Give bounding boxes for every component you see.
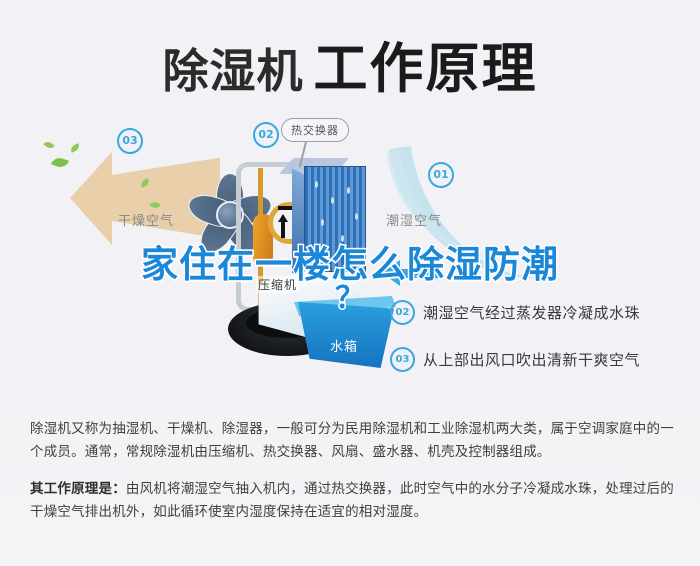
list-item: 02 潮湿空气经过蒸发器冷凝成水珠 xyxy=(390,300,690,325)
inflow-arrow-icon xyxy=(382,260,400,286)
inflow-arrow-tail xyxy=(398,269,438,278)
leaf-icon xyxy=(43,139,55,150)
step-text: 从上部出风口吹出清新干爽空气 xyxy=(423,349,640,370)
moist-air-label: 潮湿空气 xyxy=(386,210,442,229)
paragraph-one: 除湿机又称为抽湿机、干燥机、除湿器，一般可分为民用除湿机和工业除湿机两大类，属于… xyxy=(30,418,678,464)
step-text: 潮湿空气经过蒸发器冷凝成水珠 xyxy=(423,302,640,323)
dry-air-label: 干燥空气 xyxy=(118,210,174,229)
compressor-label: 压缩机 xyxy=(256,276,299,293)
badge-01: 01 xyxy=(428,162,454,188)
paragraph-two-lead: 其工作原理是： xyxy=(30,481,126,497)
flow-arrow-up-icon xyxy=(278,214,288,222)
badge-03: 03 xyxy=(117,128,143,154)
water-tank-label: 水箱 xyxy=(330,336,358,355)
description-block: 除湿机又称为抽湿机、干燥机、除湿器，一般可分为民用除湿机和工业除湿机两大类，属于… xyxy=(30,418,678,538)
paragraph-two-rest: 由风机将潮湿空气抽入机内，通过热交换器，此时空气中的水分子冷凝成水珠，处理过后的… xyxy=(30,481,674,520)
list-item: 03 从上部出风口吹出清新干爽空气 xyxy=(390,347,690,372)
step-badge: 02 xyxy=(390,300,415,325)
water-tank xyxy=(298,302,394,368)
moist-air-stream-secondary xyxy=(386,129,611,271)
heat-exchanger-fins xyxy=(304,166,366,272)
flow-arrow-shaft xyxy=(278,206,292,210)
heat-exchanger-callout: 热交换器 xyxy=(281,118,349,142)
paragraph-two: 其工作原理是：由风机将潮湿空气抽入机内，通过热交换器，此时空气中的水分子冷凝成水… xyxy=(30,478,678,524)
leaf-icon xyxy=(51,156,69,170)
step-badge: 03 xyxy=(390,347,415,372)
poster-root: 除湿机工作原理 潮湿空气 01 干燥空气 03 xyxy=(0,0,700,566)
title-part-two: 工作原理 xyxy=(314,37,538,100)
title-part-one: 除湿机 xyxy=(163,44,304,98)
page-title: 除湿机工作原理 xyxy=(0,24,700,103)
steps-list: 02 潮湿空气经过蒸发器冷凝成水珠 03 从上部出风口吹出清新干爽空气 xyxy=(390,300,690,394)
leaf-icon xyxy=(69,143,81,153)
badge-02: 02 xyxy=(253,122,279,148)
flow-arrow-shaft xyxy=(281,222,285,238)
